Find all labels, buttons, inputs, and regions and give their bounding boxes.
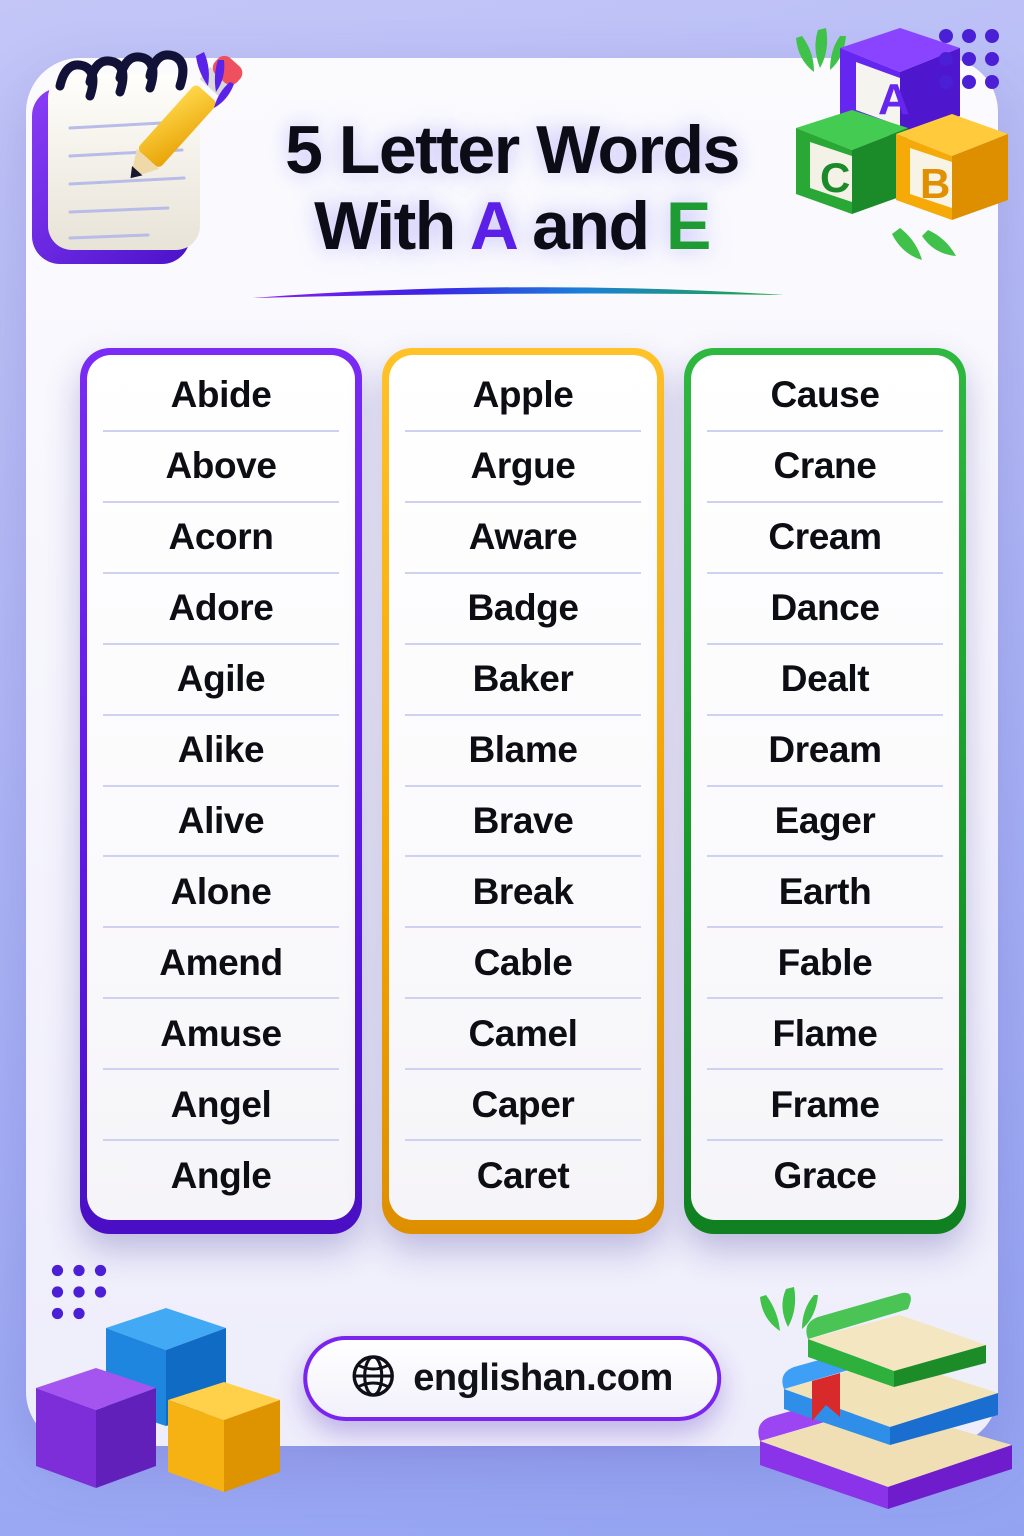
title-letter-e: E bbox=[666, 188, 710, 264]
notepad-pencil-icon bbox=[18, 30, 248, 280]
svg-text:C: C bbox=[820, 154, 850, 201]
list-item[interactable]: Cream bbox=[707, 503, 943, 574]
svg-text:A: A bbox=[878, 75, 910, 124]
dot-grid-pattern bbox=[50, 1263, 108, 1326]
word-card-purple: Abide Above Acorn Adore Agile Alike Aliv… bbox=[80, 348, 362, 1234]
list-item[interactable]: Agile bbox=[103, 645, 339, 716]
word-card-amber: Apple Argue Aware Badge Baker Blame Brav… bbox=[382, 348, 664, 1234]
list-item[interactable]: Eager bbox=[707, 787, 943, 858]
list-item[interactable]: Dance bbox=[707, 574, 943, 645]
book-stack-icon bbox=[750, 1277, 1020, 1522]
list-item[interactable]: Angle bbox=[103, 1141, 339, 1210]
title-letter-a: A bbox=[470, 188, 515, 264]
word-list-purple: Abide Above Acorn Adore Agile Alike Aliv… bbox=[87, 355, 355, 1220]
list-item[interactable]: Argue bbox=[405, 432, 641, 503]
list-item[interactable]: Adore bbox=[103, 574, 339, 645]
website-label: englishan.com bbox=[413, 1357, 673, 1400]
list-item[interactable]: Baker bbox=[405, 645, 641, 716]
list-item[interactable]: Badge bbox=[405, 574, 641, 645]
list-item[interactable]: Brave bbox=[405, 787, 641, 858]
list-item[interactable]: Angel bbox=[103, 1070, 339, 1141]
list-item[interactable]: Crane bbox=[707, 432, 943, 503]
list-item[interactable]: Acorn bbox=[103, 503, 339, 574]
list-item[interactable]: Blame bbox=[405, 716, 641, 787]
list-item[interactable]: Amend bbox=[103, 928, 339, 999]
list-item[interactable]: Apple bbox=[405, 361, 641, 432]
word-columns: Abide Above Acorn Adore Agile Alike Aliv… bbox=[80, 348, 966, 1234]
list-item[interactable]: Dream bbox=[707, 716, 943, 787]
poster-canvas: A C B 5 Letter Words With A and E bbox=[0, 0, 1024, 1536]
list-item[interactable]: Cable bbox=[405, 928, 641, 999]
dot-grid-pattern bbox=[938, 28, 1000, 95]
list-item[interactable]: Grace bbox=[707, 1141, 943, 1210]
list-item[interactable]: Caper bbox=[405, 1070, 641, 1141]
list-item[interactable]: Amuse bbox=[103, 999, 339, 1070]
list-item[interactable]: Alone bbox=[103, 857, 339, 928]
title-prefix: With bbox=[314, 188, 470, 264]
word-card-green: Cause Crane Cream Dance Dealt Dream Eage… bbox=[684, 348, 966, 1234]
list-item[interactable]: Above bbox=[103, 432, 339, 503]
list-item[interactable]: Dealt bbox=[707, 645, 943, 716]
list-item[interactable]: Earth bbox=[707, 857, 943, 928]
list-item[interactable]: Caret bbox=[405, 1141, 641, 1210]
title-underline-swoosh bbox=[248, 282, 788, 302]
list-item[interactable]: Aware bbox=[405, 503, 641, 574]
list-item[interactable]: Break bbox=[405, 857, 641, 928]
website-badge[interactable]: englishan.com bbox=[303, 1336, 721, 1421]
list-item[interactable]: Frame bbox=[707, 1070, 943, 1141]
list-item[interactable]: Fable bbox=[707, 928, 943, 999]
word-list-green: Cause Crane Cream Dance Dealt Dream Eage… bbox=[691, 355, 959, 1220]
list-item[interactable]: Flame bbox=[707, 999, 943, 1070]
list-item[interactable]: Camel bbox=[405, 999, 641, 1070]
list-item[interactable]: Cause bbox=[707, 361, 943, 432]
list-item[interactable]: Alive bbox=[103, 787, 339, 858]
title-mid: and bbox=[515, 188, 666, 264]
word-list-amber: Apple Argue Aware Badge Baker Blame Brav… bbox=[389, 355, 657, 1220]
list-item[interactable]: Alike bbox=[103, 716, 339, 787]
svg-text:B: B bbox=[920, 160, 950, 207]
globe-icon bbox=[351, 1354, 395, 1403]
toy-cubes-icon bbox=[28, 1296, 298, 1506]
list-item[interactable]: Abide bbox=[103, 361, 339, 432]
